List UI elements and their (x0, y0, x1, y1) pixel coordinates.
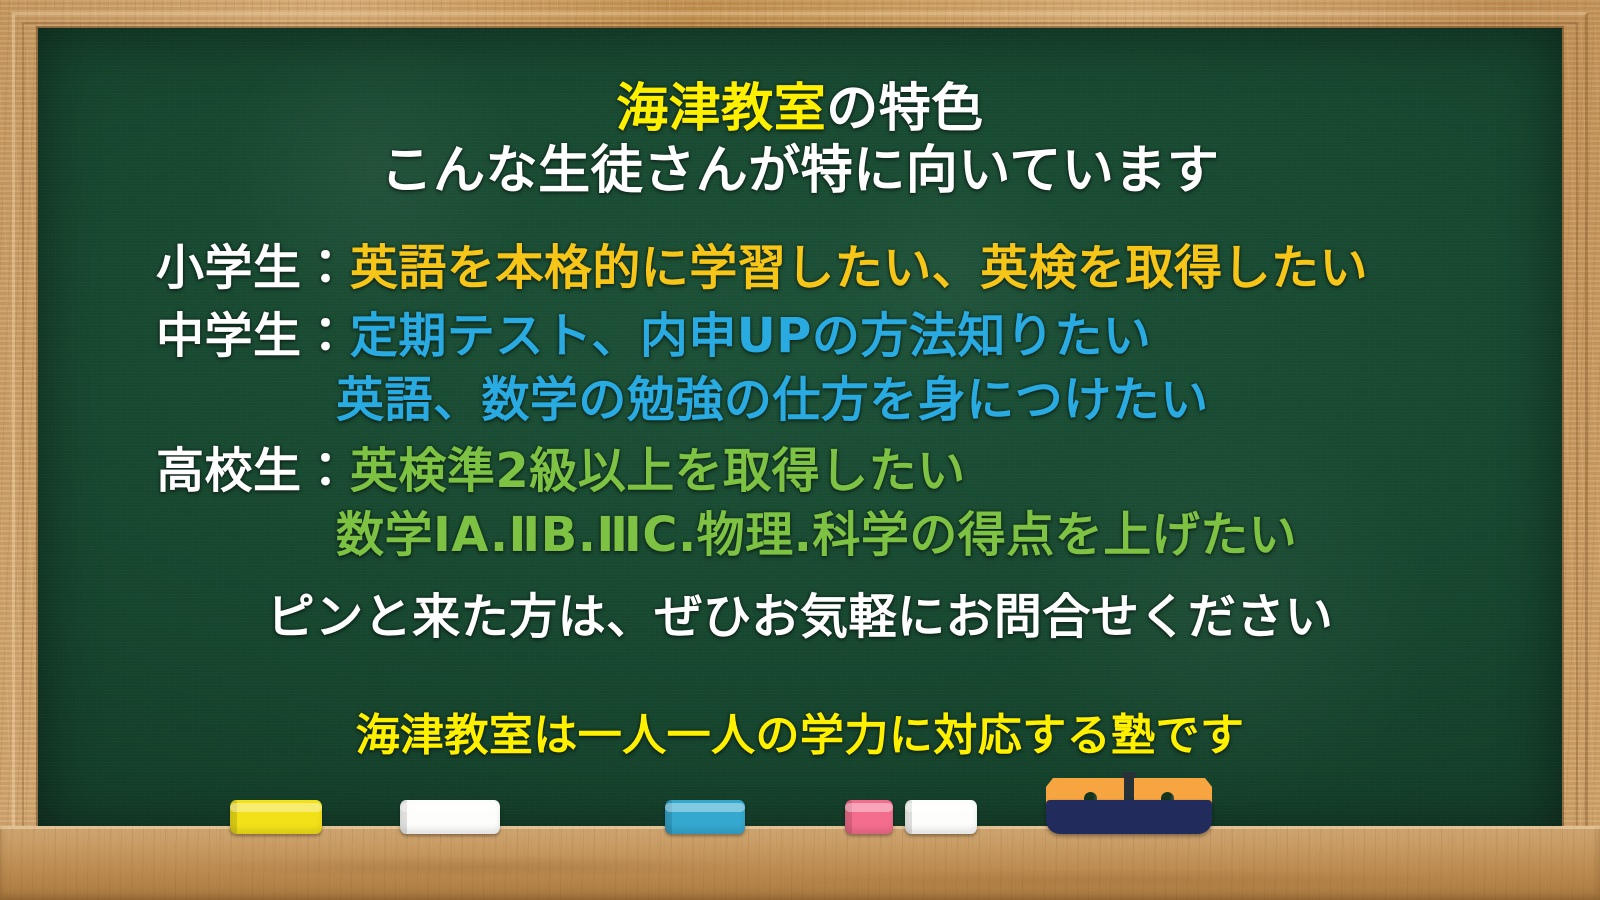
level-row-high-school-2: 数学ⅠA.ⅡB.ⅢC.物理.科学の得点を上げたい (156, 504, 1562, 566)
page-subtitle: こんな生徒さんが特に向いています (38, 140, 1562, 202)
closing-message: ピンと来た方は、ぜひお気軽にお問合せください (38, 577, 1562, 647)
eraser-body (1046, 800, 1212, 834)
chalk-white-2[interactable] (905, 800, 977, 834)
page-title-rest: の特色 (826, 79, 984, 139)
level-label-junior-high: 中学生： (156, 308, 350, 364)
level-row-elementary: 小学生：英語を本格的に学習したい、英検を取得したい (156, 237, 1562, 299)
level-text-high-school-2: 数学ⅠA.ⅡB.ⅢC.物理.科学の得点を上げたい (336, 507, 1297, 563)
eraser-tab (1122, 772, 1136, 802)
blackboard-eraser[interactable] (1046, 772, 1212, 834)
chalkboard-scene: 海津教室の特色 こんな生徒さんが特に向いています 小学生：英語を本格的に学習した… (0, 0, 1600, 900)
level-row-junior-high-2: 英語、数学の勉強の仕方を身につけたい (156, 369, 1562, 431)
tagline-message: 海津教室は一人一人の学力に対応する塾です (38, 699, 1562, 763)
page-title-line-1: 海津教室の特色 (38, 80, 1562, 138)
level-text-elementary-1: 英語を本格的に学習したい、英検を取得したい (350, 240, 1368, 296)
level-row-high-school: 高校生：英検準2級以上を取得したい (156, 440, 1562, 502)
chalkboard-surface: 海津教室の特色 こんな生徒さんが特に向いています 小学生：英語を本格的に学習した… (38, 28, 1562, 838)
level-text-junior-high-1: 定期テスト、内申UPの方法知りたい (350, 308, 1151, 364)
level-label-elementary: 小学生： (156, 240, 350, 296)
chalk-pink[interactable] (845, 800, 893, 834)
chalk-yellow[interactable] (230, 800, 322, 834)
chalk-tray (0, 826, 1600, 900)
chalk-blue[interactable] (665, 800, 745, 834)
level-text-junior-high-2: 英語、数学の勉強の仕方を身につけたい (336, 372, 1209, 428)
level-label-high-school: 高校生： (156, 443, 350, 499)
board-content: 海津教室の特色 こんな生徒さんが特に向いています 小学生：英語を本格的に学習した… (38, 28, 1562, 763)
page-title-highlight: 海津教室 (616, 79, 826, 139)
level-text-high-school-1: 英検準2級以上を取得したい (350, 443, 966, 499)
chalk-white-1[interactable] (400, 800, 500, 834)
tray-grain-texture (0, 826, 1600, 900)
level-row-junior-high: 中学生：定期テスト、内申UPの方法知りたい (156, 305, 1562, 367)
levels-list: 小学生：英語を本格的に学習したい、英検を取得したい 中学生：定期テスト、内申UP… (156, 237, 1562, 567)
